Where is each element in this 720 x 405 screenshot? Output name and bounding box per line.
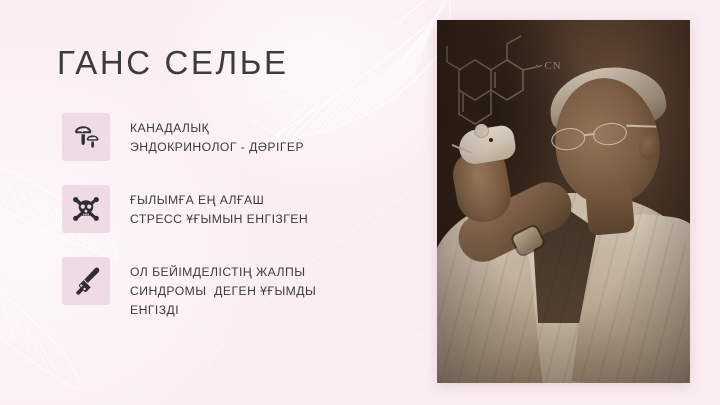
list-item-text: КАНАДАЛЫҚ ЭНДОКРИНОЛОГ - ДӘРІГЕР (130, 113, 304, 157)
list-item: ҒЫЛЫМҒА ЕҢ АЛҒАШ СТРЕСС ҰҒЫМЫН ЕНГІЗГЕН (62, 185, 412, 233)
list-item-text: ОЛ БЕЙІМДЕЛІСТІҢ ЖАЛПЫ СИНДРОМЫ ДЕГЕН ҰҒ… (130, 257, 316, 320)
list-item-text: ҒЫЛЫМҒА ЕҢ АЛҒАШ СТРЕСС ҰҒЫМЫН ЕНГІЗГЕН (130, 185, 308, 229)
list-item-line: ОЛ БЕЙІМДЕЛІСТІҢ ЖАЛПЫ (130, 263, 316, 282)
list-item: ОЛ БЕЙІМДЕЛІСТІҢ ЖАЛПЫ СИНДРОМЫ ДЕГЕН ҰҒ… (62, 257, 412, 320)
list-item-line: СИНДРОМЫ ДЕГЕН ҰҒЫМДЫ (130, 282, 316, 301)
list-item-line: СТРЕСС ҰҒЫМЫН ЕНГІЗГЕН (130, 210, 308, 229)
knife-icon (62, 257, 110, 305)
list-item-line: ЕНГІЗДІ (130, 301, 316, 320)
list-item-line: ЭНДОКРИНОЛОГ - ДӘРІГЕР (130, 138, 304, 157)
portrait-photo: ··CN (437, 20, 690, 383)
photo-scene: ··CN (437, 20, 690, 383)
page-title: ГАНС СЕЛЬЕ (57, 44, 289, 82)
list-item-line: КАНАДАЛЫҚ (130, 119, 304, 138)
bullet-list: КАНАДАЛЫҚ ЭНДОКРИНОЛОГ - ДӘРІГЕР (62, 113, 412, 320)
list-item: КАНАДАЛЫҚ ЭНДОКРИНОЛОГ - ДӘРІГЕР (62, 113, 412, 161)
mushroom-icon (62, 113, 110, 161)
list-item-line: ҒЫЛЫМҒА ЕҢ АЛҒАШ (130, 191, 308, 210)
skull-crossbones-icon (62, 185, 110, 233)
photo-vignette (437, 20, 690, 383)
